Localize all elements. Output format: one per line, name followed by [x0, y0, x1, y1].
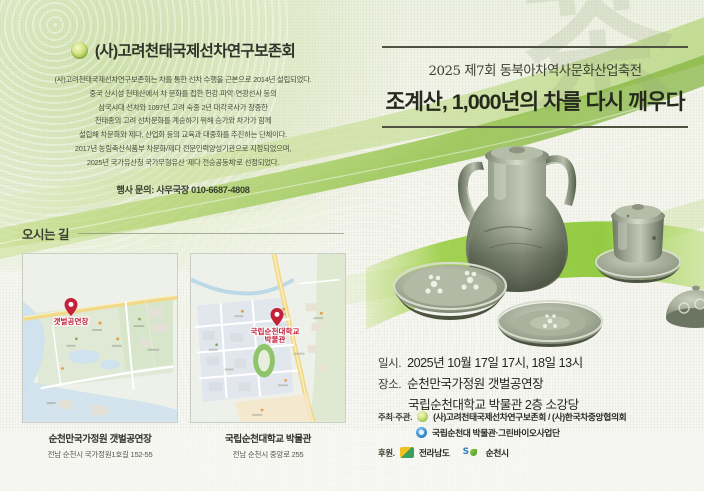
description-line: 중국 산시성 천태산에서 차 문화를 접한 헌강·파악·연광선사 등의	[16, 88, 350, 99]
festival-subtitle: 2025 제7회 동북아차역사문화산업축전	[382, 59, 688, 79]
directions-heading: 오시는 길	[22, 224, 344, 243]
host-row: 주최·주관. (사)고려천태국제선차연구보존회 / (사)한국차중앙협의회	[378, 410, 704, 423]
description-line: 설립해 차문화와 제다, 산업화 등의 교육과 대중화를 추진하는 단체이다.	[16, 129, 350, 140]
map-caption-address: 전남 순천시 중앙로 255	[190, 449, 346, 460]
description-line: (사)고려천태국제선차연구보존회는 차를 통한 선차 수행을 근본으로 2014…	[16, 74, 350, 85]
right-column: 2025 제7회 동북아차역사문화산업축전 조계산, 1,000년의 차를 다시…	[366, 0, 704, 491]
jeollanamdo-emblem-icon	[400, 447, 414, 458]
title-rule-top	[382, 46, 688, 48]
tea-leaf-emblem-icon	[417, 411, 428, 422]
celadon-small-lid	[666, 286, 704, 328]
event-details: 일시. 2025년 10월 17일 17시, 18일 13시 장소. 순천만국가…	[378, 352, 698, 413]
sponsor-name-jeonnam: 전라남도	[419, 446, 450, 459]
organization-header: (사)고려천태국제선차연구보존회	[0, 39, 366, 61]
host-organizations: (사)고려천태국제선차연구보존회 / (사)한국차중앙협의회	[433, 410, 626, 423]
organization-description: (사)고려천태국제선차연구보존회는 차를 통한 선차 수행을 근본으로 2014…	[0, 74, 366, 168]
map-caption-address: 전남 순천시 국가정원1호길 152-55	[22, 449, 178, 460]
map-pin-label: 갯벌공연장	[54, 318, 89, 327]
description-line: 삼국시대 선차와 1097년 고려 숙종 2년 대각국사가 창종한	[16, 102, 350, 113]
date-label: 일시.	[378, 355, 401, 371]
sponsor-label: 후원.	[378, 447, 395, 459]
map-frame-garden[interactable]: 갯벌공연장	[22, 253, 178, 423]
organization-name: (사)고려천태국제선차연구보존회	[95, 39, 295, 61]
map-pin-icon	[65, 298, 78, 316]
map-graphic-garden	[23, 254, 177, 422]
description-line: 2025년 국가유산청 국가무형유산 '제다 전승공동체'로 선정되었다.	[16, 157, 350, 168]
celadon-plate	[498, 301, 602, 347]
map-pin-icon	[271, 308, 284, 326]
map-cell-museum: 국립순천대학교 박물관 국립순천대학교 박물관 전남 순천시 중앙로 255	[190, 253, 346, 460]
sponsor-name-suncheon: 순천시	[486, 446, 509, 459]
event-venue-row: 장소. 순천만국가정원 갯벌공연장	[378, 373, 698, 392]
heading-divider	[78, 233, 344, 234]
suncheon-logo-mark: S	[463, 448, 469, 457]
maps-row: 갯벌공연장 순천만국가정원 갯벌공연장 전남 순천시 국가정원1호길 152-5…	[22, 253, 346, 460]
contact-info: 행사 문의: 사무국장 010-6687-4808	[0, 182, 366, 196]
description-line: 천태종의 고려 선차문화를 계승하기 위해 승가와 차가가 함께	[16, 115, 350, 126]
directions-title: 오시는 길	[22, 224, 69, 243]
map-caption-museum: 국립순천대학교 박물관 전남 순천시 중앙로 255	[190, 431, 346, 460]
map-pin-label: 국립순천대학교 박물관	[251, 328, 300, 345]
event-poster: 茶 (사)고려천태국제선차연구보존회 (사)고려천태국제선차연구보존회는 차를 …	[0, 0, 704, 491]
celadon-tea-set-photo	[366, 112, 704, 352]
map-frame-museum[interactable]: 국립순천대학교 박물관	[190, 253, 346, 423]
suncheon-logo-leaf	[470, 449, 477, 456]
suncheon-city-emblem-icon: S	[463, 447, 481, 458]
credits-block: 주최·주관. (사)고려천태국제선차연구보존회 / (사)한국차중앙협의회 국립…	[378, 410, 704, 462]
sponsor-row: 후원. 전라남도 S 순천시	[378, 446, 704, 459]
venue-label: 장소.	[378, 376, 401, 392]
host-organization-secondary: 국립순천대 박물관·그린바이오사업단	[432, 426, 560, 439]
university-emblem-icon	[416, 427, 427, 438]
celadon-lidded-jar	[596, 204, 680, 283]
left-column: (사)고려천태국제선차연구보존회 (사)고려천태국제선차연구보존회는 차를 통한…	[0, 0, 366, 491]
venue-value: 순천만국가정원 갯벌공연장	[407, 373, 543, 392]
host-row-secondary: 국립순천대 박물관·그린바이오사업단	[416, 426, 704, 439]
date-value: 2025년 10월 17일 17시, 18일 13시	[407, 352, 583, 371]
event-date-row: 일시. 2025년 10월 17일 17시, 18일 13시	[378, 352, 698, 371]
map-caption-garden: 순천만국가정원 갯벌공연장 전남 순천시 국가정원1호길 152-55	[22, 431, 178, 460]
host-label: 주최·주관.	[378, 411, 412, 423]
map-caption-title: 순천만국가정원 갯벌공연장	[22, 431, 178, 445]
map-cell-garden: 갯벌공연장 순천만국가정원 갯벌공연장 전남 순천시 국가정원1호길 152-5…	[22, 253, 178, 460]
map-caption-title: 국립순천대학교 박물관	[190, 431, 346, 445]
tea-leaf-emblem-icon	[71, 42, 88, 59]
description-line: 2017년 농림축산식품부 차문화/제다 전문인력양성기관으로 지정되었으며,	[16, 143, 350, 154]
